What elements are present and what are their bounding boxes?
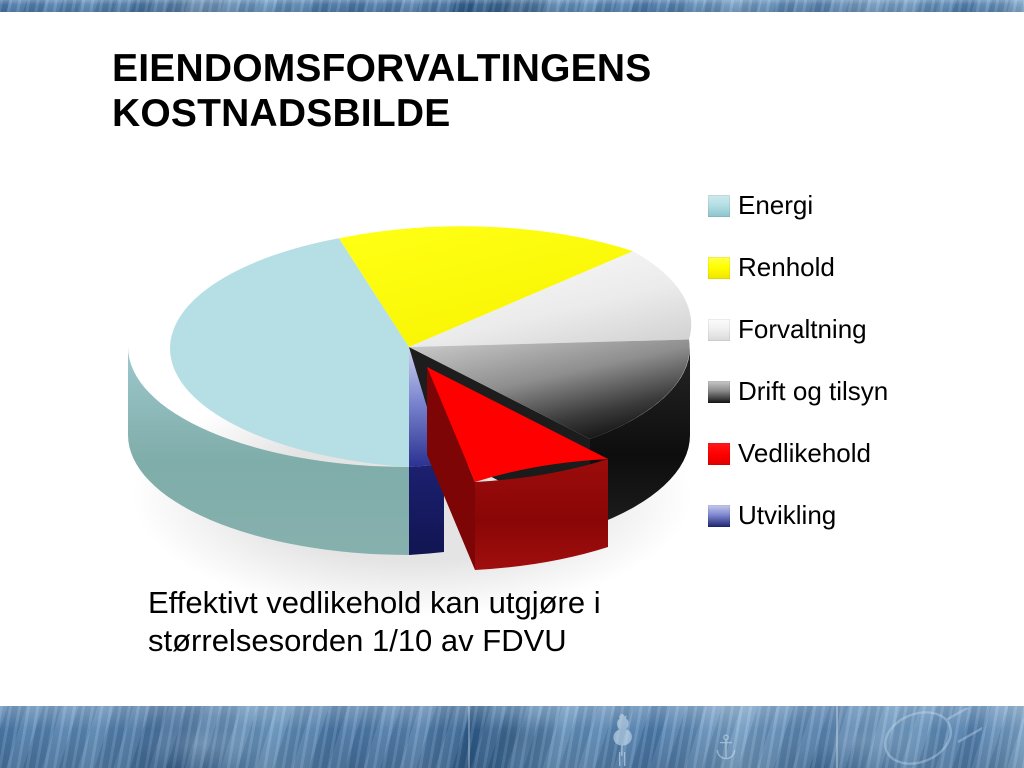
legend-label-vedlikehold: Vedlikehold	[738, 436, 871, 471]
band-divider-1	[468, 706, 470, 768]
legend-swatch-forvaltning	[708, 319, 730, 341]
legend-item-forvaltning[interactable]: Forvaltning	[708, 312, 1008, 374]
band-divider-2	[836, 706, 838, 768]
slide-caption-line-2: størrelsesorden 1/10 av FDVU	[148, 622, 848, 660]
legend-label-forvaltning: Forvaltning	[738, 312, 867, 347]
legend-item-renhold[interactable]: Renhold	[708, 250, 1008, 312]
legend-swatch-renhold	[708, 257, 730, 279]
bird-silhouette-icon	[600, 712, 646, 768]
chart-legend: Energi Renhold Forvaltning Drift og tils…	[708, 188, 1008, 560]
page-title: EIENDOMSFORVALTINGENS KOSTNADSBILDE	[112, 46, 852, 136]
legend-item-energi[interactable]: Energi	[708, 188, 1008, 250]
top-decorative-band	[0, 0, 1024, 12]
legend-swatch-drift-og-tilsyn	[708, 381, 730, 403]
magnifier-icon	[862, 708, 982, 766]
legend-label-drift-og-tilsyn: Drift og tilsyn	[738, 374, 888, 409]
slide: EIENDOMSFORVALTINGENS KOSTNADSBILDE	[0, 0, 1024, 768]
slide-caption-line-1: Effektivt vedlikehold kan utgjøre i	[148, 584, 848, 622]
legend-item-vedlikehold[interactable]: Vedlikehold	[708, 436, 1008, 498]
page-title-line-1: EIENDOMSFORVALTINGENS	[112, 46, 852, 91]
pie-chart	[96, 206, 716, 586]
legend-label-energi: Energi	[738, 188, 813, 223]
legend-swatch-utvikling	[708, 505, 730, 527]
legend-label-utvikling: Utvikling	[738, 498, 836, 533]
legend-swatch-vedlikehold	[708, 443, 730, 465]
legend-label-renhold: Renhold	[738, 250, 835, 285]
legend-item-drift-og-tilsyn[interactable]: Drift og tilsyn	[708, 374, 1008, 436]
legend-item-utvikling[interactable]: Utvikling	[708, 498, 1008, 560]
legend-swatch-energi	[708, 195, 730, 217]
band-texture-image	[0, 0, 1024, 12]
anchor-icon	[714, 734, 738, 760]
bottom-decorative-band	[0, 706, 1024, 768]
page-title-line-2: KOSTNADSBILDE	[112, 91, 852, 136]
slide-caption: Effektivt vedlikehold kan utgjøre i stør…	[148, 584, 848, 661]
